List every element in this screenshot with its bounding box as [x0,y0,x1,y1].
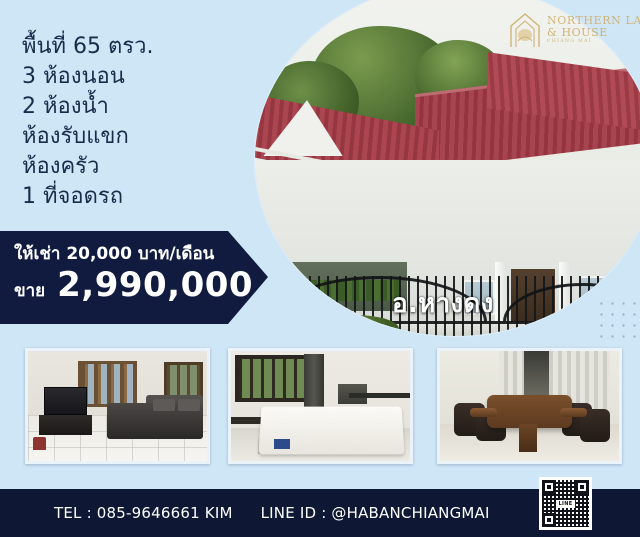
line-qr-code[interactable]: LINE [539,477,592,530]
feature-item-living: ห้องรับแขก [22,122,252,152]
brand-logo: NORTHERN LAND & HOUSE CHIANG MAI [508,8,632,52]
flower-shape [279,315,315,329]
living-room-image [28,351,207,461]
photo-gallery [0,348,640,470]
wall-rail [349,393,410,399]
property-ad-poster: อ.หางดง NORTHERN LAND & HOUSE CHIANG MAI… [0,0,640,537]
house-arch-icon [508,11,542,49]
gallery-thumb-bedroom[interactable] [228,348,413,464]
dining-room-image [440,351,619,461]
tv-stand [39,415,93,435]
decor-object [33,437,46,450]
curtain [304,354,324,409]
feature-item-parking: 1 ที่จอดรถ [22,182,252,212]
qr-finder-icon [542,513,556,527]
bedroom-image [231,351,410,461]
brand-line-3: CHIANG MAI [547,40,640,45]
gallery-thumb-dining-room[interactable] [437,348,622,464]
curtain-shadow [524,351,549,395]
cushion [178,399,199,411]
phone-number[interactable]: TEL : 085-9646661 KIM [54,504,233,522]
feature-item-bedrooms: 3 ห้องนอน [22,62,252,92]
qr-finder-icon [575,480,589,494]
table-leg [519,424,537,453]
mattress-tag [274,439,290,449]
qr-finder-icon [542,480,556,494]
window-shape [235,355,310,401]
location-label: อ.หางดง [392,283,494,324]
cushion [153,399,174,411]
sale-label: ขาย [14,277,45,304]
feature-list: พื้นที่ 65 ตรว. 3 ห้องนอน 2 ห้องน้ำ ห้อง… [22,32,252,212]
sale-price-value: 2,990,000 [57,268,253,302]
television [44,387,87,415]
sale-price-row: ขาย 2,990,000 [14,268,253,304]
gallery-thumb-living-room[interactable] [25,348,210,464]
rent-price-text: ให้เช่า 20,000 บาท/เดือน [14,240,214,267]
feature-item-kitchen: ห้องครัว [22,152,252,182]
chair-armrest [560,408,587,417]
line-id[interactable]: LINE ID : @HABANCHIANGMAI [261,504,490,522]
brand-text: NORTHERN LAND & HOUSE CHIANG MAI [547,15,640,45]
footer-contact-group: TEL : 085-9646661 KIM LINE ID : @HABANCH… [54,489,490,537]
brand-line-2: & HOUSE [547,27,640,38]
qr-center-label: LINE [556,500,576,508]
bush-shape [311,315,399,336]
brand-line-1: NORTHERN LAND [547,15,640,26]
chair-armrest [470,408,497,417]
qr-pattern: LINE [542,480,589,527]
feature-item-bathrooms: 2 ห้องน้ำ [22,92,252,122]
feature-item-area: พื้นที่ 65 ตรว. [22,32,252,62]
price-banner: ให้เช่า 20,000 บาท/เดือน ขาย 2,990,000 [0,231,268,324]
